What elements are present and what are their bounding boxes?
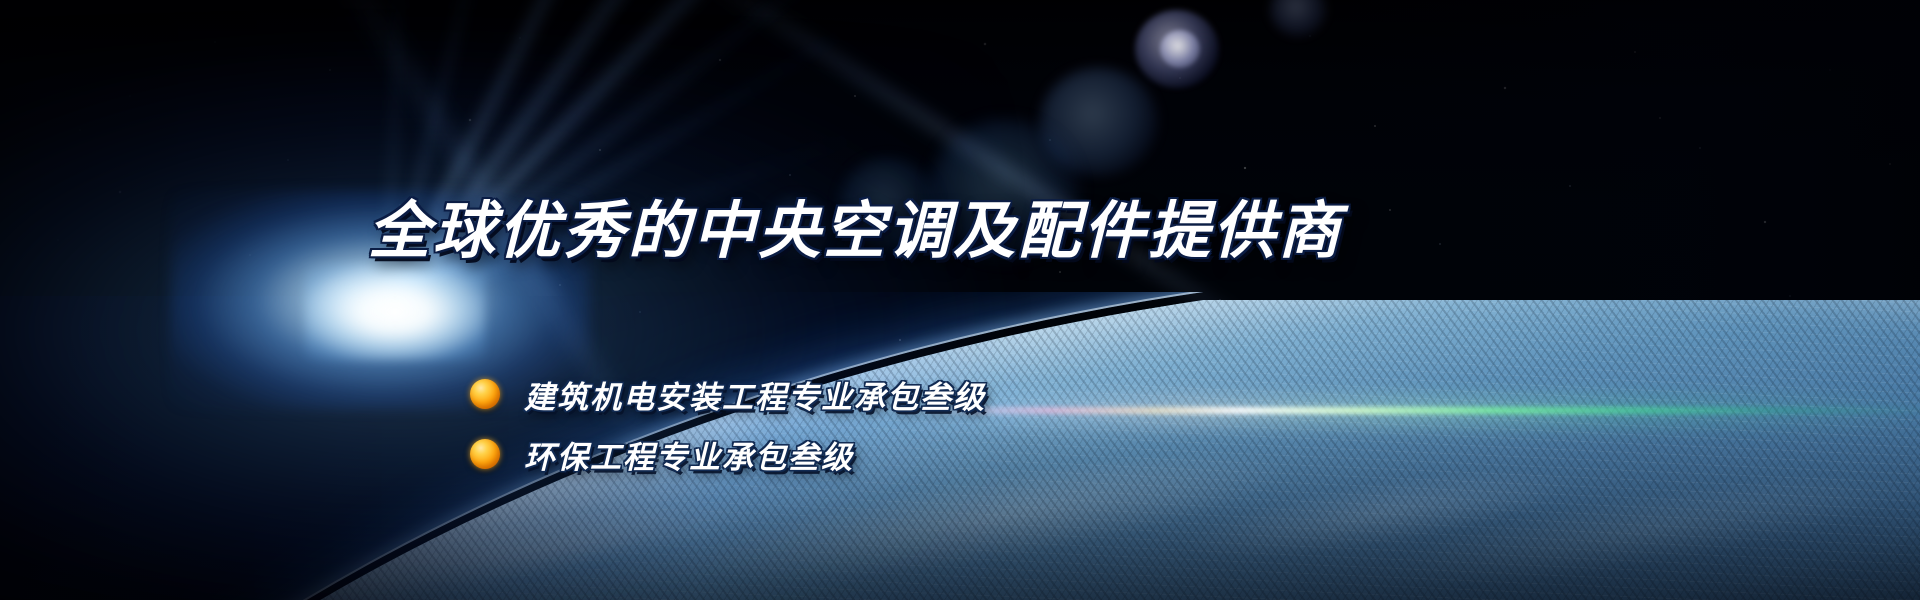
bullet-dot-icon [470, 439, 500, 469]
hero-banner: 全球优秀的中央空调及配件提供商 建筑机电安装工程专业承包叁级 环保工程专业承包叁… [0, 0, 1920, 600]
bullet-label: 环保工程专业承包叁级 [524, 432, 854, 477]
list-item: 环保工程专业承包叁级 [470, 428, 986, 480]
banner-headline: 全球优秀的中央空调及配件提供商 [368, 201, 1343, 263]
banner-content: 全球优秀的中央空调及配件提供商 建筑机电安装工程专业承包叁级 环保工程专业承包叁… [0, 0, 1920, 600]
bullet-label: 建筑机电安装工程专业承包叁级 [524, 372, 986, 417]
banner-bullet-list: 建筑机电安装工程专业承包叁级 环保工程专业承包叁级 [470, 368, 986, 488]
list-item: 建筑机电安装工程专业承包叁级 [470, 368, 986, 420]
bullet-dot-icon [470, 379, 500, 409]
